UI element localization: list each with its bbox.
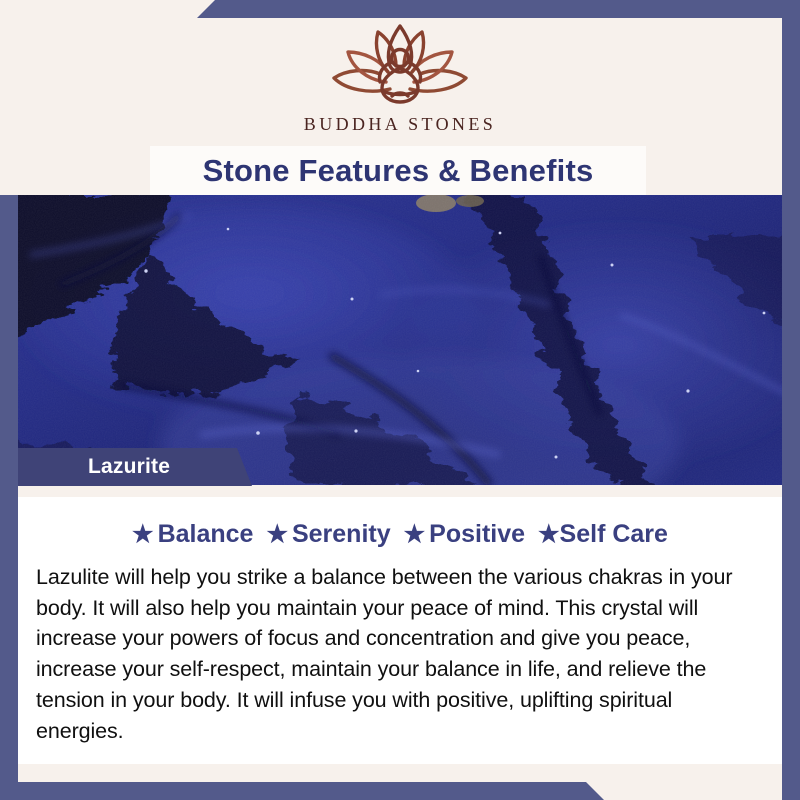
star-icon: ★ (132, 523, 154, 547)
star-icon: ★ (538, 523, 560, 547)
keyword-item-self-care: ★Self Care (538, 520, 668, 549)
stone-description: Lazulite will help you strike a balance … (36, 562, 764, 746)
keyword-label: Self Care (560, 520, 668, 548)
keyword-label: Serenity (292, 520, 391, 548)
stone-name-banner: Lazurite (0, 448, 252, 486)
keyword-item-positive: ★Positive (404, 520, 525, 549)
star-icon: ★ (404, 523, 426, 547)
stone-info-poster: BUDDHA STONES Stone Features & Benefits (0, 0, 800, 800)
lazurite-texture-graphic (0, 195, 800, 485)
keyword-label: Balance (158, 520, 254, 548)
stone-photo (0, 195, 800, 485)
keyword-item-balance: ★Balance (132, 520, 253, 549)
lotus-meditation-icon (316, 16, 484, 112)
brand-name: BUDDHA STONES (0, 114, 800, 135)
page-title: Stone Features & Benefits (203, 153, 594, 189)
frame-bottom-band (0, 782, 800, 800)
star-icon: ★ (266, 523, 288, 547)
title-panel: Stone Features & Benefits (150, 146, 646, 195)
keyword-list: ★Balance★Serenity★Positive★Self Care (18, 520, 782, 549)
content-card: ★Balance★Serenity★Positive★Self Care Laz… (18, 497, 782, 764)
brand-logo: BUDDHA STONES (0, 16, 800, 135)
frame-right-band (782, 0, 800, 800)
keyword-label: Positive (429, 520, 525, 548)
stone-name-label: Lazurite (0, 455, 170, 479)
keyword-item-serenity: ★Serenity (266, 520, 390, 549)
frame-left-band (0, 195, 18, 800)
